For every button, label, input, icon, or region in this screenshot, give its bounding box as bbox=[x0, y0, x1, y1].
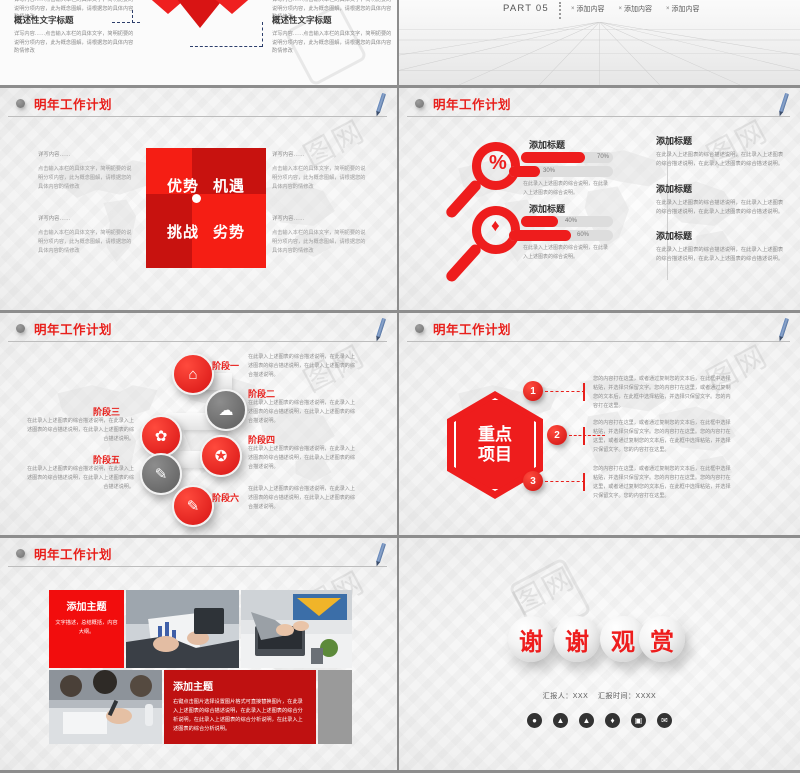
magnifier-bar-4: 60% bbox=[509, 230, 613, 241]
header-rule bbox=[8, 341, 387, 342]
right-item-body: 在此录入上述图表的综合描述说明，在此录入上述图表的综合描述说明，在此录入上述图表… bbox=[656, 246, 788, 265]
right-item-body: 在此录入上述图表的综合描述说明，在此录入上述图表的综合描述说明，在此录入上述图表… bbox=[656, 151, 788, 170]
slide-title: 明年工作计划 bbox=[34, 94, 112, 113]
droplet-icon: ♦ bbox=[491, 216, 500, 236]
part-item-label: 添加内容 bbox=[577, 4, 605, 14]
point-body-3: 您的内容打在这里，或者通过复制您的文本后，在此框中选择粘贴，并选择只保留文字。您… bbox=[593, 465, 733, 502]
swot-text-lead: 详写内容…… bbox=[272, 214, 368, 222]
part-item-label: 添加内容 bbox=[624, 4, 652, 14]
part-items: × 添加内容 × 添加内容 × 添加内容 bbox=[571, 4, 700, 14]
swot-text-lead: 详写内容…… bbox=[38, 214, 134, 222]
camera-icon[interactable]: ▣ bbox=[631, 713, 646, 728]
user-icon[interactable]: ▲ bbox=[553, 713, 568, 728]
swot-petal-weakness[interactable]: 劣势 bbox=[192, 194, 266, 268]
header-rule bbox=[8, 116, 387, 117]
pearl-2: 谢 bbox=[554, 616, 600, 662]
bar-fill bbox=[509, 166, 540, 177]
slide-canvas: 图网 明年工作计划 添加主题 文字描述，总结概括，内容大纲。 bbox=[0, 538, 397, 770]
stage-body-5: 在此录入上述图表的综合描述说明，在此录入上述图表的综合描述说明，在此录入上述图表… bbox=[26, 465, 134, 492]
swot-text-body: 点击输入本栏的具体文字，简明扼要的说明分项内容，此为概念图解，请根据您的具体内容… bbox=[38, 229, 134, 256]
collage-photo-3[interactable] bbox=[49, 670, 162, 744]
perspective-floor-grid bbox=[399, 22, 800, 85]
part-label: PART 05 bbox=[503, 3, 549, 14]
right-item-title: 添加标题 bbox=[656, 229, 788, 242]
slide-canvas: 3 4 5 详写内容……点击输入本栏的具体文字，简明扼要的说明分项内容，此为概念… bbox=[0, 0, 397, 85]
gear-icon: ✿ bbox=[155, 427, 168, 445]
stage-body-3: 在此录入上述图表的综合描述说明，在此录入上述图表的综合描述说明，在此录入上述图表… bbox=[26, 417, 134, 444]
hexagon-label-line2: 项目 bbox=[478, 445, 512, 465]
part-item[interactable]: × 添加内容 bbox=[666, 4, 700, 14]
magnifier-description: 在此录入上述图表的综合说明，在此录入上述图表的综合说明。 bbox=[523, 244, 611, 261]
magnifier-bar-2: 30% bbox=[509, 166, 613, 177]
stage-body-1: 在此录入上述图表的综合描述说明，在此录入上述图表的综合描述说明，在此录入上述图表… bbox=[248, 353, 356, 380]
slide-thumbnail-partial-right[interactable]: PART 05 × 添加内容 × 添加内容 × 添加内容 bbox=[399, 0, 800, 88]
slide-canvas: 图网 明年工作计划 ⌂ ☁ ✿ ✪ bbox=[0, 313, 397, 535]
pen-icon bbox=[779, 93, 789, 113]
pearl-char: 谢 bbox=[519, 622, 543, 657]
slide-canvas: PART 05 × 添加内容 × 添加内容 × 添加内容 bbox=[399, 0, 800, 85]
collage-card-top[interactable]: 添加主题 文字描述，总结概括，内容大纲。 bbox=[49, 590, 124, 668]
swot-text-body: 点击输入本栏的具体文字，简明扼要的说明分项内容，此为概念图解，请根据您的具体内容… bbox=[272, 165, 368, 192]
pen-icon bbox=[376, 93, 386, 113]
strip-heading-right: 概述性文字标题 bbox=[272, 14, 392, 26]
point-tick-1 bbox=[583, 383, 585, 401]
magnifier-bar-3: 40% bbox=[521, 216, 613, 227]
pen-icon bbox=[376, 318, 386, 338]
slide-canvas: 图网 明年工作计划 % 添加标题 70% bbox=[399, 88, 800, 310]
percent-icon: % bbox=[489, 152, 507, 175]
part-bar: PART 05 × 添加内容 × 添加内容 × 添加内容 bbox=[399, 0, 800, 22]
part-separator bbox=[559, 2, 561, 19]
pen-icon bbox=[779, 318, 789, 338]
slide-header: 明年工作计划 bbox=[0, 88, 397, 122]
strip-body-left: 详写内容……点击输入本栏的具体文字，简明扼要的说明分项内容，此为概念图解，请根据… bbox=[14, 30, 134, 56]
point-badge-2[interactable]: 2 bbox=[547, 425, 567, 445]
stage-label-6: 阶段六 bbox=[212, 491, 239, 504]
bar-value: 70% bbox=[597, 154, 609, 160]
bar-value: 40% bbox=[565, 218, 577, 224]
part-item[interactable]: × 添加内容 bbox=[619, 4, 653, 14]
collage-card-top-title: 添加主题 bbox=[55, 598, 118, 613]
triangle-5 bbox=[202, 0, 262, 14]
close-icon[interactable]: × bbox=[571, 6, 575, 12]
reporter-line: 汇报人：XXX 汇报时间：XXXX bbox=[399, 691, 800, 701]
strip-heading-block-left: 概述性文字标题 详写内容……点击输入本栏的具体文字，简明扼要的说明分项内容，此为… bbox=[14, 14, 134, 56]
swot-text-bottom-left: 详写内容…… 点击输入本栏的具体文字，简明扼要的说明分项内容，此为概念图解，请根… bbox=[38, 214, 134, 256]
swot-text-body: 点击输入本栏的具体文字，简明扼要的说明分项内容，此为概念图解，请根据您的具体内容… bbox=[272, 229, 368, 256]
triangle-diagram: 3 4 5 bbox=[138, 0, 262, 44]
right-item-body: 在此录入上述图表的综合描述说明，在此录入上述图表的综合描述说明，在此录入上述图表… bbox=[656, 199, 788, 218]
stage-circle-2[interactable]: ☁ bbox=[205, 389, 247, 431]
magnifier-title: 添加标题 bbox=[529, 202, 565, 215]
cloud-icon[interactable]: ▲ bbox=[579, 713, 594, 728]
swot-center-dot bbox=[192, 194, 201, 203]
strip-heading-left: 概述性文字标题 bbox=[14, 14, 134, 26]
ppt-template-gallery: 3 4 5 详写内容……点击输入本栏的具体文字，简明扼要的说明分项内容，此为概念… bbox=[0, 0, 800, 773]
hexagon-label-line1: 重点 bbox=[478, 425, 512, 445]
slide-canvas: 图网 谢 谢 观 赏 汇报人：XXX 汇报时间：XXXX ● ▲ bbox=[399, 538, 800, 770]
stage-circle-1[interactable]: ⌂ bbox=[172, 353, 214, 395]
social-icons-row: ● ▲ ▲ ♦ ▣ ✉ bbox=[399, 713, 800, 728]
connector-right bbox=[190, 46, 262, 47]
slide-canvas: 图网 明年工作计划 重点 项目 1 您的内容打在这里，或者通过复制您的文本后，在… bbox=[399, 313, 800, 535]
swot-text-lead: 详写内容…… bbox=[38, 150, 134, 158]
connector-right-vertical bbox=[262, 22, 263, 47]
bar-value: 30% bbox=[543, 168, 555, 174]
point-tick-2 bbox=[583, 427, 585, 445]
bullet-dot-icon bbox=[415, 324, 424, 333]
slide-title: 明年工作计划 bbox=[433, 319, 511, 338]
slide-header: 明年工作计划 bbox=[0, 313, 397, 347]
right-item-title: 添加标题 bbox=[656, 134, 788, 147]
point-badge-1[interactable]: 1 bbox=[523, 381, 543, 401]
magnifier-description: 在此录入上述图表的综合说明，在此录入上述图表的综合说明。 bbox=[523, 180, 611, 197]
magnifier-right-column: 添加标题 在此录入上述图表的综合描述说明，在此录入上述图表的综合描述说明，在此录… bbox=[656, 134, 788, 277]
reporter-label: 汇报人：XXX bbox=[543, 693, 589, 700]
bullet-dot-icon bbox=[16, 324, 25, 333]
stage-circle-4[interactable]: ✪ bbox=[200, 435, 242, 477]
collage-photo-2[interactable] bbox=[241, 590, 352, 668]
collage-photo-1[interactable] bbox=[126, 590, 239, 668]
bar-fill bbox=[521, 152, 585, 163]
strip-heading-block-right: 概述性文字标题 详写内容……点击输入本栏的具体文字，简明扼要的说明分项内容，此为… bbox=[272, 14, 392, 56]
magnifier-bar-1: 70% bbox=[521, 152, 613, 163]
slide-header: 明年工作计划 bbox=[0, 538, 397, 572]
stage-circle-6[interactable]: ✎ bbox=[172, 485, 214, 527]
right-item-title: 添加标题 bbox=[656, 182, 788, 195]
watermark-text: 图网 bbox=[505, 553, 582, 622]
chat-icon[interactable]: ● bbox=[527, 713, 542, 728]
point-badge-3[interactable]: 3 bbox=[523, 471, 543, 491]
bar-value: 60% bbox=[577, 232, 589, 238]
collage-card-bottom-title: 添加主题 bbox=[173, 678, 307, 693]
swot-petal-label: 机遇 bbox=[213, 175, 245, 196]
swot-text-lead: 详写内容…… bbox=[272, 150, 368, 158]
stage-body-4: 在此录入上述图表的综合描述说明，在此录入上述图表的综合描述说明，在此录入上述图表… bbox=[248, 445, 356, 472]
stage-circle-3[interactable]: ✿ bbox=[140, 415, 182, 457]
pearl-char: 谢 bbox=[565, 622, 589, 657]
slide-header: 明年工作计划 bbox=[399, 88, 800, 122]
chat-icon: ✎ bbox=[187, 497, 200, 515]
close-icon[interactable]: × bbox=[619, 6, 623, 12]
slide-thumbnail-collage[interactable]: 图网 明年工作计划 添加主题 文字描述，总结概括，内容大纲。 bbox=[0, 538, 399, 773]
header-rule bbox=[407, 341, 790, 342]
slide-header: 明年工作计划 bbox=[399, 313, 800, 347]
collage-card-bottom-body: 右键点击图片选择设置图片格式可直接替换图片，在此录入上述图表的综合描述说明，在此… bbox=[173, 698, 307, 734]
bullet-dot-icon bbox=[16, 99, 25, 108]
header-rule bbox=[8, 566, 387, 567]
home-icon: ⌂ bbox=[188, 366, 197, 383]
magnifier-title: 添加标题 bbox=[529, 138, 565, 151]
cloud-icon: ☁ bbox=[219, 401, 234, 419]
mail-icon[interactable]: ✉ bbox=[657, 713, 672, 728]
point-connector-3 bbox=[545, 481, 585, 482]
slide-thumbnail-partial-left[interactable]: 3 4 5 详写内容……点击输入本栏的具体文字，简明扼要的说明分项内容，此为概念… bbox=[0, 0, 399, 88]
date-label: 汇报时间：XXXX bbox=[598, 693, 656, 700]
edit-icon: ✎ bbox=[155, 465, 168, 483]
bullet-dot-icon bbox=[415, 99, 424, 108]
swot-text-top-right: 详写内容…… 点击输入本栏的具体文字，简明扼要的说明分项内容，此为概念图解，请根… bbox=[272, 150, 368, 192]
pearl-4: 赏 bbox=[639, 616, 685, 662]
bullet-dot-icon bbox=[16, 549, 25, 558]
bar-fill bbox=[521, 216, 558, 227]
slide-thumbnail-thanks[interactable]: 图网 谢 谢 观 赏 汇报人：XXX 汇报时间：XXXX ● ▲ bbox=[399, 538, 800, 773]
part-item[interactable]: × 添加内容 bbox=[571, 4, 605, 14]
collage-card-top-body: 文字描述，总结概括，内容大纲。 bbox=[55, 619, 118, 637]
swot-text-body: 点击输入本栏的具体文字，简明扼要的说明分项内容，此为概念图解，请根据您的具体内容… bbox=[38, 165, 134, 192]
money-icon: ✪ bbox=[215, 447, 228, 465]
stage-body-6: 在此录入上述图表的综合描述说明，在此录入上述图表的综合描述说明，在此录入上述图表… bbox=[248, 485, 356, 512]
collage-card-bottom[interactable]: 添加主题 右键点击图片选择设置图片格式可直接替换图片，在此录入上述图表的综合描述… bbox=[164, 670, 316, 744]
part-item-label: 添加内容 bbox=[672, 4, 700, 14]
stage-label-1: 阶段一 bbox=[212, 359, 239, 372]
stage-body-2: 在此录入上述图表的综合描述说明，在此录入上述图表的综合描述说明，在此录入上述图表… bbox=[248, 399, 356, 426]
slide-thumbnail-stages[interactable]: 图网 明年工作计划 ⌂ ☁ ✿ ✪ bbox=[0, 313, 399, 538]
pearl-1: 谢 bbox=[508, 616, 554, 662]
point-body-2: 您的内容打在这里，或者通过复制您的文本后，在此框中选择粘贴，并选择只保留文字。您… bbox=[593, 419, 733, 456]
swot-text-top-left: 详写内容…… 点击输入本栏的具体文字，简明扼要的说明分项内容，此为概念图解，请根… bbox=[38, 150, 134, 192]
slide-thumbnail-magnifier[interactable]: 图网 明年工作计划 % 添加标题 70% bbox=[399, 88, 800, 313]
swot-petal-label: 优势 bbox=[167, 175, 199, 196]
pearl-char: 观 bbox=[611, 622, 635, 657]
point-tick-3 bbox=[583, 473, 585, 491]
triangle-number-4: 4 bbox=[194, 0, 200, 2]
stage-circle-5[interactable]: ✎ bbox=[140, 453, 182, 495]
slide-thumbnail-hexagon[interactable]: 图网 明年工作计划 重点 项目 1 您的内容打在这里，或者通过复制您的文本后，在… bbox=[399, 313, 800, 538]
pen-icon bbox=[376, 543, 386, 563]
bar-fill bbox=[509, 230, 571, 241]
slide-title: 明年工作计划 bbox=[433, 94, 511, 113]
slide-thumbnail-swot[interactable]: 图网 明年工作计划 优势 机遇 挑战 劣势 详写 bbox=[0, 88, 399, 313]
pearl-char: 赏 bbox=[650, 622, 674, 657]
slide-title: 明年工作计划 bbox=[34, 544, 112, 563]
swot-petal-label: 劣势 bbox=[213, 221, 245, 242]
strip-body-right: 详写内容……点击输入本栏的具体文字，简明扼要的说明分项内容，此为概念图解，请根据… bbox=[272, 30, 392, 56]
swot-text-bottom-right: 详写内容…… 点击输入本栏的具体文字，简明扼要的说明分项内容，此为概念图解，请根… bbox=[272, 214, 368, 256]
magnifier-handle-icon bbox=[444, 242, 483, 284]
collage-gray-block bbox=[318, 670, 352, 744]
header-rule bbox=[407, 116, 790, 117]
close-icon[interactable]: × bbox=[666, 6, 670, 12]
point-body-1: 您的内容打在这里，或者通过复制您的文本后，在此框中选择粘贴，并选择只保留文字。您… bbox=[593, 375, 733, 412]
point-connector-1 bbox=[545, 391, 585, 392]
slide-title: 明年工作计划 bbox=[34, 319, 112, 338]
award-icon[interactable]: ♦ bbox=[605, 713, 620, 728]
swot-petal-label: 挑战 bbox=[167, 221, 199, 242]
slide-canvas: 图网 明年工作计划 优势 机遇 挑战 劣势 详写 bbox=[0, 88, 397, 310]
